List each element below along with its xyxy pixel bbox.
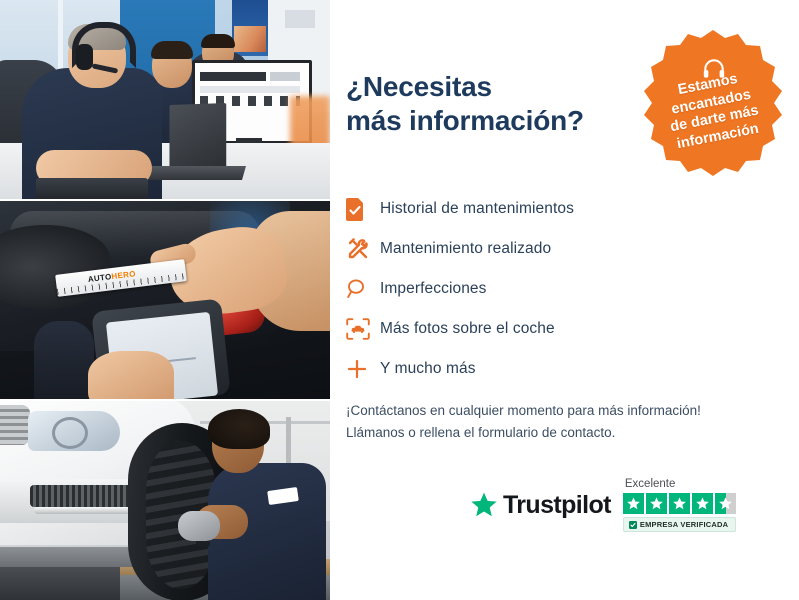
trustpilot-star-4 (692, 493, 713, 514)
trustpilot-star-5-half (715, 493, 736, 514)
trustpilot-logo[interactable]: Trustpilot (470, 491, 611, 520)
inspector-second-hand (88, 351, 174, 400)
mechanic-glove (178, 511, 220, 541)
feature-label: Historial de mantenimientos (380, 200, 574, 218)
trustpilot-star-1 (623, 493, 644, 514)
wall-strip (285, 10, 315, 28)
laptop-screen (169, 103, 226, 171)
feature-item-mucho-mas: Y mucho más (346, 350, 766, 388)
background-agent-hair (201, 34, 235, 48)
monitor-ui-panel (270, 72, 300, 81)
photo-column: AUTOHERO (0, 0, 330, 600)
feature-item-mantenimiento: Mantenimiento realizado (346, 230, 766, 268)
desk-tablet (36, 178, 148, 199)
monitor-ui-row (200, 86, 300, 93)
trustpilot-star-icon (470, 491, 498, 519)
contact-text: ¡Contáctanos en cualquier momento para m… (346, 400, 786, 444)
feature-item-fotos: Más fotos sobre el coche (346, 310, 766, 348)
poster-image (234, 26, 266, 52)
magnifier-icon (346, 278, 380, 300)
headset-earcup-icon (76, 44, 93, 70)
car-lift-base (0, 567, 120, 600)
feature-item-historial: Historial de mantenimientos (346, 190, 766, 228)
car-inspection-ruler-photo: AUTOHERO (0, 199, 330, 400)
trustpilot-stars (623, 493, 736, 514)
verified-check-icon (629, 521, 637, 529)
trustpilot-star-3 (669, 493, 690, 514)
car-frame-icon (346, 318, 380, 340)
trustpilot-star-2 (646, 493, 667, 514)
contact-line-1: ¡Contáctanos en cualquier momento para m… (346, 400, 786, 422)
feature-item-imperfecciones: Imperfecciones (346, 270, 766, 308)
trustpilot-rating[interactable]: Trustpilot Excelente (470, 478, 736, 532)
second-agent-hair (151, 41, 193, 59)
mechanic-wheel-photo (0, 399, 330, 600)
trustpilot-rating-label: Excelente (625, 478, 676, 490)
contact-line-2: Llámanos o rellena el formulario de cont… (346, 422, 786, 444)
feature-label: Más fotos sobre el coche (380, 320, 555, 338)
page-title: ¿Necesitas más información? (346, 70, 584, 138)
call-center-agents-photo (0, 0, 330, 199)
background-tyre (0, 225, 110, 309)
car-grille (0, 405, 30, 445)
background-person (34, 321, 94, 400)
information-badge: Estamos encantados de darte más informac… (639, 28, 787, 178)
trustpilot-wordmark: Trustpilot (503, 491, 611, 520)
verified-company-label: EMPRESA VERIFICADA (640, 520, 728, 529)
trustpilot-score-block: Excelente (623, 478, 736, 532)
document-check-icon (346, 198, 380, 221)
feature-label: Imperfecciones (380, 280, 487, 298)
feature-label: Mantenimiento realizado (380, 240, 551, 258)
feature-list: Historial de mantenimientos Mantenimient… (346, 190, 766, 390)
monitor-ui-bar (200, 72, 266, 81)
feature-label: Y mucho más (380, 360, 476, 378)
information-banner: AUTOHERO (0, 0, 799, 600)
plus-icon (346, 358, 380, 380)
content-panel: ¿Necesitas más información? Estamos enca… (330, 0, 799, 600)
mechanic-hair (208, 409, 270, 449)
verified-company-badge: EMPRESA VERIFICADA (623, 517, 736, 532)
tools-icon (346, 237, 380, 261)
